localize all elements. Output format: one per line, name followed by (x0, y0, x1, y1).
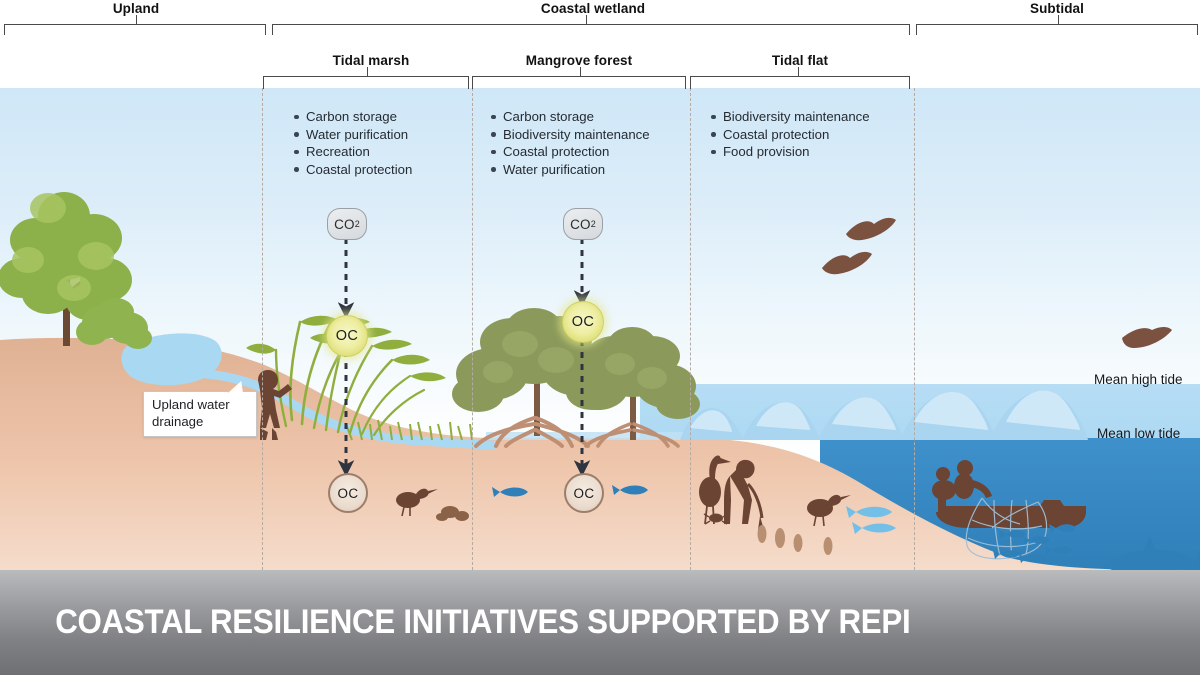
co2-label: CO (334, 217, 355, 232)
oc-marker-marsh-canopy: OC (326, 315, 368, 357)
co2-subscript: 2 (355, 219, 360, 229)
service-item: Biodiversity maintenance (490, 126, 650, 144)
service-item: Coastal protection (710, 126, 870, 144)
service-item: Carbon storage (293, 108, 412, 126)
oc-label: OC (573, 486, 594, 501)
oc-label: OC (572, 314, 595, 330)
infographic-root: Upland Coastal wetland Subtidal Tidal ma… (0, 0, 1200, 675)
divider-marsh-mangrove (472, 88, 473, 570)
service-item: Biodiversity maintenance (710, 108, 870, 126)
services-tidal-flat: Biodiversity maintenance Coastal protect… (710, 108, 870, 161)
group-label-upland: Upland (0, 1, 272, 16)
co2-label: CO (570, 217, 591, 232)
divider-mangrove-flat (690, 88, 691, 570)
banner-title: COASTAL RESILIENCE INITIATIVES SUPPORTED… (0, 603, 910, 642)
bracket-subtidal (916, 24, 1198, 35)
service-item: Food provision (710, 143, 870, 161)
bracket-tick-coastal-wetland (586, 15, 587, 24)
group-label-coastal-wetland: Coastal wetland (272, 1, 914, 16)
group-label-subtidal: Subtidal (914, 1, 1200, 16)
subgroup-label-tidal-marsh: Tidal marsh (272, 53, 470, 68)
callout-line-1: Upland water (152, 397, 248, 414)
mean-high-tide-label: Mean high tide (1094, 372, 1183, 387)
bracket-upland (4, 24, 266, 35)
oc-marker-marsh-buried: OC (328, 473, 368, 513)
co2-marker-marsh: CO2 (327, 208, 367, 240)
services-mangrove-forest: Carbon storage Biodiversity maintenance … (490, 108, 650, 178)
oc-marker-mangrove-buried: OC (564, 473, 604, 513)
bracket-tick-subtidal (1058, 15, 1059, 24)
bracket-mangrove-forest (472, 76, 686, 89)
co2-marker-mangrove: CO2 (563, 208, 603, 240)
oc-marker-mangrove-canopy: OC (562, 301, 604, 343)
bracket-coastal-wetland (272, 24, 910, 35)
service-item: Water purification (293, 126, 412, 144)
zone-header: Upland Coastal wetland Subtidal Tidal ma… (0, 0, 1200, 88)
divider-upland-marsh (262, 88, 263, 570)
service-item: Water purification (490, 161, 650, 179)
bracket-tidal-marsh (263, 76, 469, 89)
services-tidal-marsh: Carbon storage Water purification Recrea… (293, 108, 412, 178)
bracket-tick-upland (136, 15, 137, 24)
callout-line-2: drainage (152, 414, 248, 431)
service-item: Coastal protection (293, 161, 412, 179)
service-item: Recreation (293, 143, 412, 161)
bracket-tick-tidal-marsh (367, 67, 368, 76)
bracket-tidal-flat (690, 76, 910, 89)
title-banner: COASTAL RESILIENCE INITIATIVES SUPPORTED… (0, 570, 1200, 675)
subgroup-label-mangrove-forest: Mangrove forest (470, 53, 688, 68)
cross-section-scene: Carbon storage Water purification Recrea… (0, 88, 1200, 570)
service-item: Carbon storage (490, 108, 650, 126)
upland-water-drainage-callout: Upland water drainage (143, 391, 257, 437)
subgroup-label-tidal-flat: Tidal flat (688, 53, 912, 68)
mean-low-tide-label: Mean low tide (1097, 426, 1180, 441)
bracket-tick-mangrove-forest (580, 67, 581, 76)
service-item: Coastal protection (490, 143, 650, 161)
co2-subscript: 2 (591, 219, 596, 229)
oc-label: OC (336, 328, 359, 344)
divider-flat-subtidal (914, 88, 915, 570)
oc-label: OC (337, 486, 358, 501)
bracket-tick-tidal-flat (798, 67, 799, 76)
